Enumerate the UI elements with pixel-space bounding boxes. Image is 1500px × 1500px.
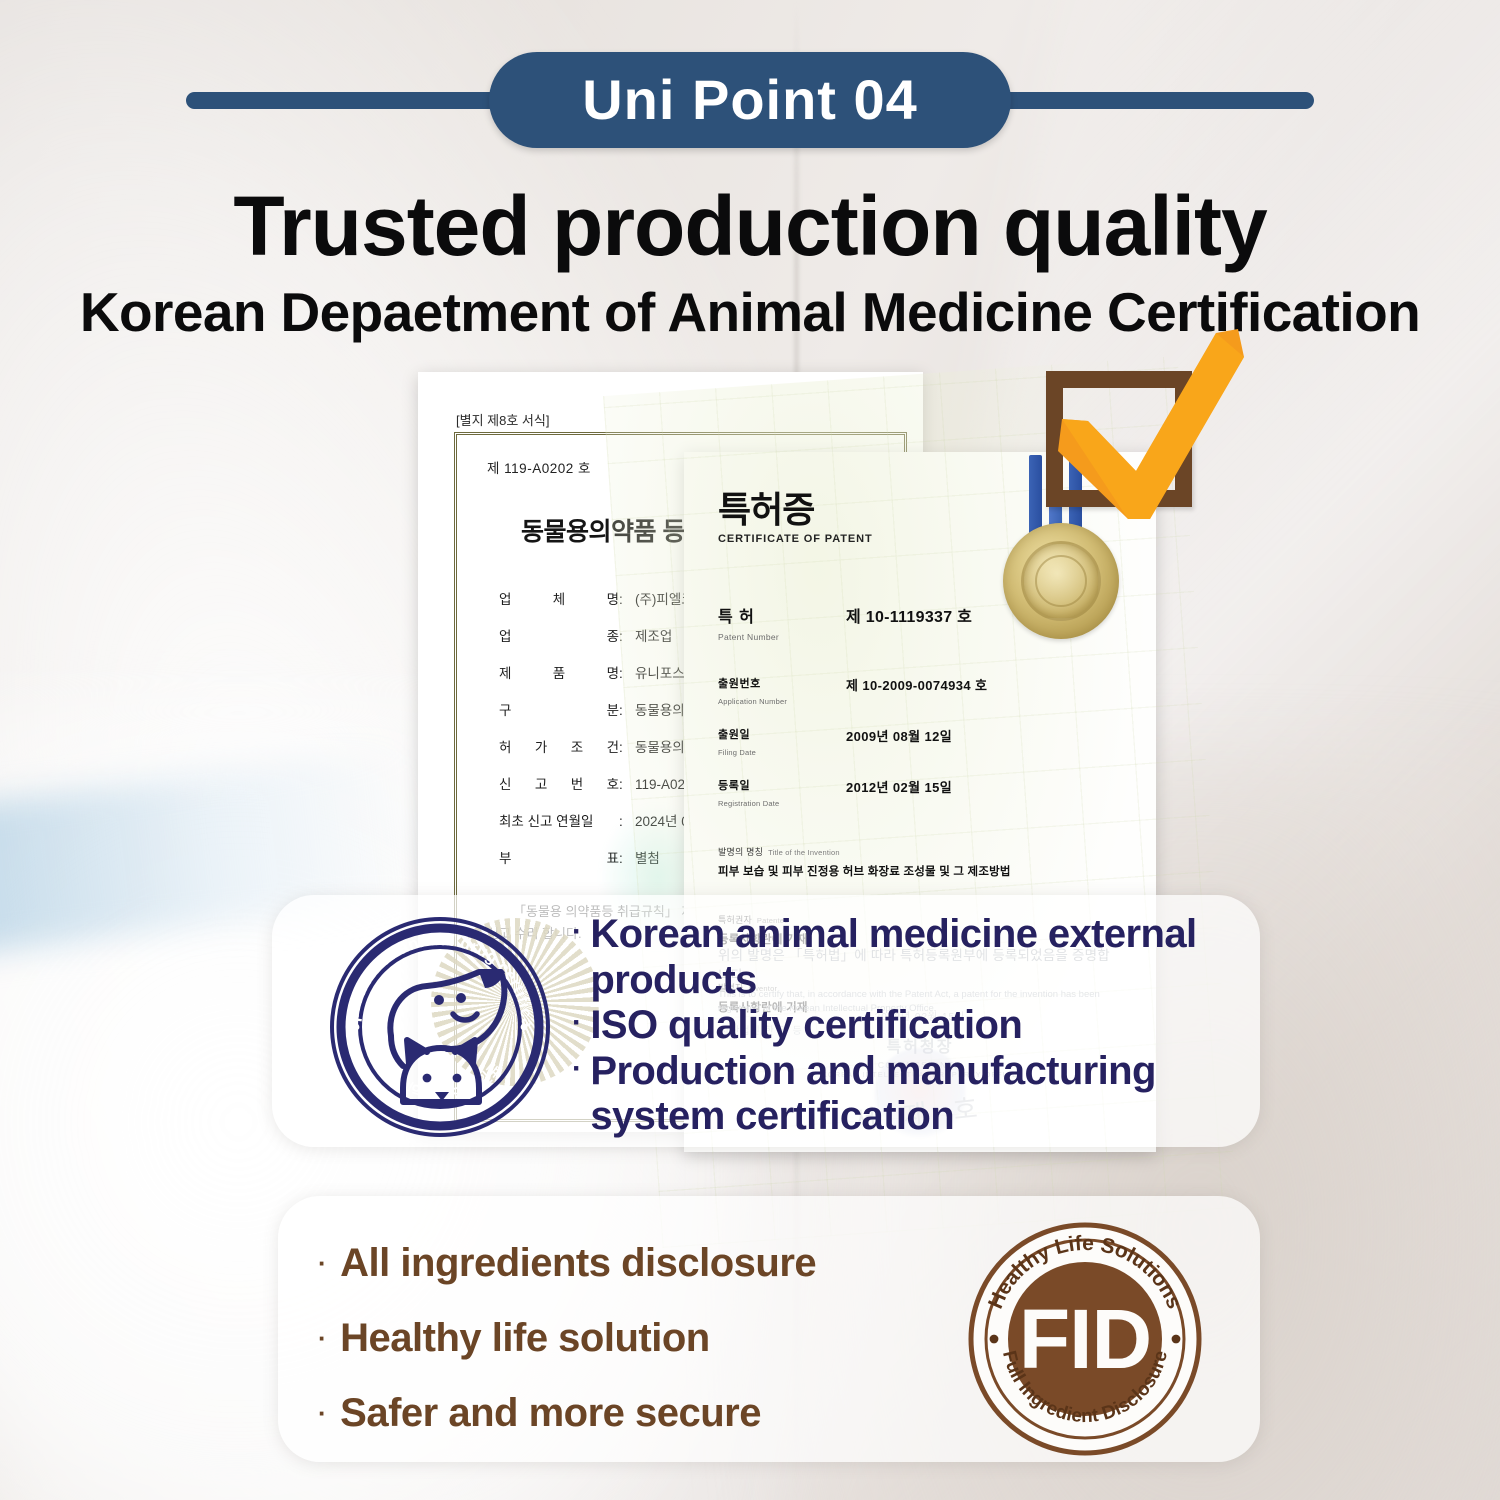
- patent-invention-caption: 발명의 명칭Title of the Invention: [718, 845, 1122, 858]
- patent-detail-value: 2009년 08월 12일: [846, 726, 952, 745]
- patent-number-label-en: Patent Number: [718, 632, 779, 642]
- card-2-bullet-item: ·Safer and more secure: [318, 1393, 938, 1433]
- patent-detail-row: 등록일Registration Date2012년 02월 15일: [718, 777, 1122, 811]
- doc-field-label: 구분: [499, 699, 619, 719]
- patent-invention-caption-en: Title of the Invention: [768, 848, 840, 857]
- checkmark-icon: [1032, 323, 1252, 543]
- card-1-bullet-item-text: ISO quality certification: [590, 1003, 1022, 1049]
- doc-field-label: 업종: [499, 625, 619, 645]
- patent-invention-caption-kr: 발명의 명칭: [718, 847, 763, 857]
- card-1-bullet-list: ·Korean animal medicine external product…: [572, 912, 1272, 1140]
- fid-logo-seal: Healthy Life Solutions Full Ingredient D…: [968, 1222, 1202, 1456]
- doc-field-label: 허가조건: [499, 736, 619, 756]
- patent-detail-label: 출원일Filing Date: [718, 726, 846, 760]
- card-2-bullet-item-text: Healthy life solution: [340, 1318, 710, 1358]
- doc-form-slip: [별지 제8호 서식]: [456, 410, 549, 429]
- bullet-dot-icon: ·: [318, 1400, 326, 1426]
- card-2-bullet-item: ·Healthy life solution: [318, 1318, 938, 1358]
- bullet-dot-icon: ·: [572, 912, 581, 951]
- patent-detail-label: 등록일Registration Date: [718, 777, 846, 811]
- doc-field-label: 업체명: [499, 588, 619, 608]
- bullet-dot-icon: ·: [318, 1325, 326, 1351]
- bullet-dot-icon: ·: [572, 1003, 581, 1042]
- card-1-bullet-item: ·Production and manufacturing system cer…: [572, 1049, 1272, 1140]
- patent-invention-title: 피부 보습 및 피부 진정용 허브 화장료 조성물 및 그 제조방법: [718, 863, 1122, 879]
- card-2-bullet-item-text: All ingredients disclosure: [340, 1243, 816, 1283]
- doc-field-label: 제품명: [499, 662, 619, 682]
- patent-detail-row: 출원일Filing Date2009년 08월 12일: [718, 726, 1122, 760]
- animal-drug-certification-seal: Completion of animal drug certification …: [323, 902, 571, 1140]
- patent-detail-value: 제 10-2009-0074934 호: [846, 675, 987, 694]
- patent-detail-rows: 출원번호Application Number제 10-2009-0074934 …: [718, 675, 1122, 811]
- patent-number-value: 제 10-1119337 호: [846, 603, 972, 627]
- card-1-bullet-item: ·ISO quality certification: [572, 1003, 1272, 1049]
- bullet-dot-icon: ·: [318, 1250, 326, 1276]
- patent-detail-value: 2012년 02월 15일: [846, 777, 952, 796]
- svg-text:FID: FID: [1019, 1292, 1151, 1386]
- patent-detail-row: 출원번호Application Number제 10-2009-0074934 …: [718, 675, 1122, 709]
- card-1-bullet-item: ·Korean animal medicine external product…: [572, 912, 1272, 1003]
- card-2-bullet-item: ·All ingredients disclosure: [318, 1243, 938, 1283]
- animal-drug-seal-icon: Completion of animal drug certification …: [329, 916, 551, 1138]
- bullet-dot-icon: ·: [572, 1049, 581, 1088]
- card-1-bullet-item-text: Korean animal medicine external products: [590, 912, 1272, 1003]
- patent-number-label-kr: 특 허: [718, 603, 846, 627]
- checkbox-checkmark-icon: [1046, 371, 1192, 507]
- doc-field-label: 신고번호: [499, 773, 619, 793]
- patent-invention-block: 발명의 명칭Title of the Invention 피부 보습 및 피부 …: [718, 845, 1122, 879]
- card-2-bullet-list: ·All ingredients disclosure·Healthy life…: [318, 1243, 938, 1433]
- patent-detail-label: 출원번호Application Number: [718, 675, 846, 709]
- card-1-bullet-item-text: Production and manufacturing system cert…: [590, 1049, 1272, 1140]
- card-2-bullet-item-text: Safer and more secure: [340, 1393, 761, 1433]
- medal-emboss-inner: [1035, 555, 1087, 607]
